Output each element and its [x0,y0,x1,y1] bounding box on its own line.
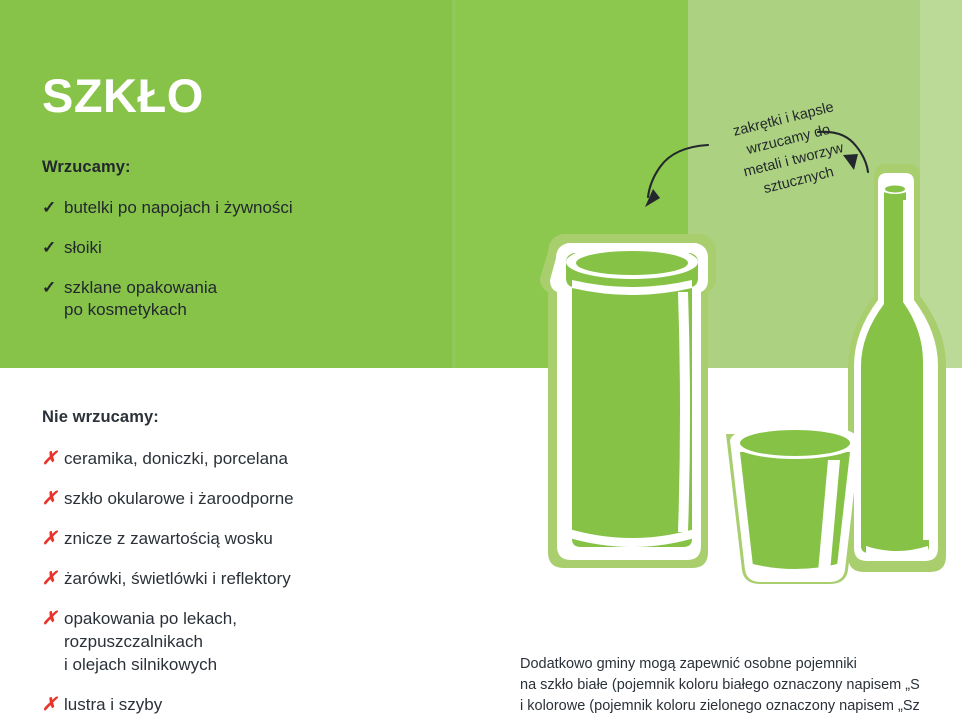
green-band-lightest [920,0,962,368]
accepted-items-block: Wrzucamy: ✓ butelki po napojach i żywnoś… [42,158,442,339]
list-item: ✓ butelki po napojach i żywności [42,197,442,219]
list-item: ✓ szklane opakowania po kosmetykach [42,277,442,321]
accepted-item-label: słoiki [64,237,102,259]
accepted-heading: Wrzucamy: [42,158,442,177]
check-icon: ✓ [42,197,64,219]
list-item: ✗ lustra i szyby [42,693,482,716]
cross-icon: ✗ [42,693,64,715]
green-band-mid [456,0,688,368]
rejected-item-label: opakowania po lekach, rozpuszczalnikach … [64,607,237,676]
check-icon: ✓ [42,277,64,299]
check-icon: ✓ [42,237,64,259]
list-item: ✗ żarówki, świetlówki i reflektory [42,567,482,590]
rejected-items-block: Nie wrzucamy: ✗ ceramika, doniczki, porc… [42,408,482,726]
page-title: SZKŁO [42,71,204,120]
list-item: ✗ ceramika, doniczki, porcelana [42,447,482,470]
cross-icon: ✗ [42,567,64,589]
rejected-item-label: ceramika, doniczki, porcelana [64,447,288,470]
list-item: ✗ opakowania po lekach, rozpuszczalnikac… [42,607,482,676]
accepted-item-label: szklane opakowania po kosmetykach [64,277,217,321]
rejected-heading: Nie wrzucamy: [42,408,482,427]
cross-icon: ✗ [42,447,64,469]
list-item: ✓ słoiki [42,237,442,259]
green-band-light [688,0,920,368]
rejected-item-label: szkło okularowe i żaroodporne [64,487,294,510]
cross-icon: ✗ [42,527,64,549]
accepted-item-label: butelki po napojach i żywności [64,197,293,219]
footnote-text: Dodatkowo gminy mogą zapewnić osobne poj… [520,654,962,722]
rejected-item-label: żarówki, świetlówki i reflektory [64,567,291,590]
cross-icon: ✗ [42,607,64,629]
recycling-poster-szklo: SZKŁO Wrzucamy: ✓ butelki po napojach i … [0,0,962,726]
list-item: ✗ szkło okularowe i żaroodporne [42,487,482,510]
rejected-item-label: lustra i szyby [64,693,162,716]
cross-icon: ✗ [42,487,64,509]
rejected-item-label: znicze z zawartością wosku [64,527,273,550]
list-item: ✗ znicze z zawartością wosku [42,527,482,550]
